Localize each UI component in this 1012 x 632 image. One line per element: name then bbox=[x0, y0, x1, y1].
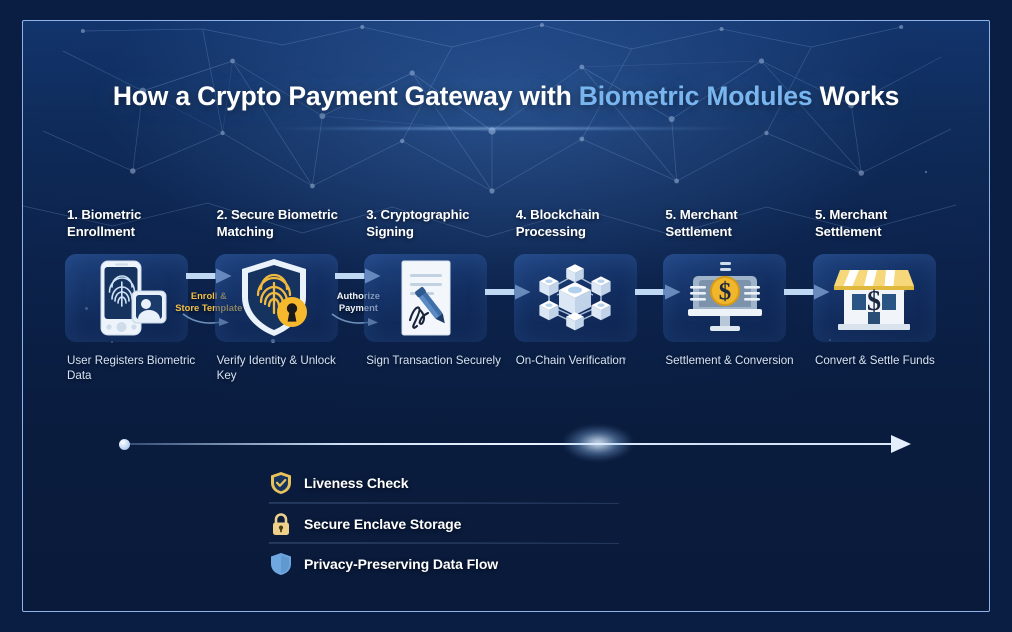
feature-label: Liveness Check bbox=[304, 475, 408, 491]
connector-2: Authorize Payment bbox=[353, 254, 365, 342]
step-caption: Convert & Settle Funds bbox=[813, 353, 951, 368]
step-3-cryptographic-signing: 3. Cryptographic Signing bbox=[364, 207, 502, 368]
step-caption: On-Chain Verification bbox=[514, 353, 652, 368]
document-signature-pen-icon bbox=[386, 258, 466, 338]
smartphone-fingerprint-face-icon bbox=[79, 259, 175, 337]
title-block: How a Crypto Payment Gateway with Biomet… bbox=[23, 81, 989, 112]
connector-1: Enroll & Store Template bbox=[203, 254, 215, 342]
step-icon-panel bbox=[514, 254, 637, 342]
step-4-blockchain-processing: 4. Blockchain Processing bbox=[514, 207, 652, 368]
steps-row: 1. Biometric Enrollment bbox=[65, 207, 951, 383]
blockchain-cubes-network-icon bbox=[527, 259, 623, 337]
connector-3 bbox=[502, 254, 514, 342]
step-title: 5. Merchant Settlement bbox=[663, 207, 801, 245]
step-title: 3. Cryptographic Signing bbox=[364, 207, 502, 245]
step-5-merchant-settlement: 5. Merchant Settlement bbox=[663, 207, 801, 368]
step-icon-panel bbox=[364, 254, 487, 342]
shield-fingerprint-keyhole-icon bbox=[234, 257, 318, 339]
timeline-arrowhead-icon bbox=[891, 435, 911, 453]
timeline-line bbox=[127, 443, 893, 445]
timeline-glow bbox=[563, 425, 633, 461]
step-icon-panel bbox=[65, 254, 188, 342]
page-title: How a Crypto Payment Gateway with Biomet… bbox=[23, 81, 989, 112]
shield-check-icon bbox=[269, 470, 293, 496]
title-text-last: Works bbox=[812, 81, 899, 111]
feature-item-liveness-check: Liveness Check bbox=[269, 463, 619, 503]
step-icon-panel: $ bbox=[813, 254, 936, 342]
infographic-poster: How a Crypto Payment Gateway with Biomet… bbox=[0, 0, 1012, 632]
step-title: 1. Biometric Enrollment bbox=[65, 207, 203, 245]
step-caption: Verify Identity & Unlock Key bbox=[215, 353, 353, 383]
feature-label: Privacy-Preserving Data Flow bbox=[304, 556, 498, 572]
step-6-merchant-settlement: 5. Merchant Settlement bbox=[813, 207, 951, 368]
step-title: 4. Blockchain Processing bbox=[514, 207, 652, 245]
title-underglow bbox=[276, 127, 736, 130]
step-caption: Settlement & Conversion bbox=[663, 353, 801, 368]
svg-text:$: $ bbox=[867, 286, 881, 317]
step-icon-panel: $ bbox=[663, 254, 786, 342]
step-title: 2. Secure Biometric Matching bbox=[215, 207, 353, 245]
feature-item-secure-enclave-storage: Secure Enclave Storage bbox=[269, 503, 619, 543]
step-caption: User Registers Biometric Data bbox=[65, 353, 203, 383]
step-2-secure-biometric-matching: 2. Secure Biometric Matching bbox=[215, 207, 353, 383]
title-text-first: How a Crypto Payment Gateway with bbox=[113, 81, 579, 111]
feature-label: Secure Enclave Storage bbox=[304, 516, 461, 532]
step-icon-panel bbox=[215, 254, 338, 342]
storefront-dollar-icon: $ bbox=[830, 260, 918, 336]
padlock-icon bbox=[269, 511, 293, 537]
monitor-dollar-coin-icon: $ bbox=[680, 260, 770, 336]
step-title: 5. Merchant Settlement bbox=[813, 207, 951, 245]
poster-frame: How a Crypto Payment Gateway with Biomet… bbox=[22, 20, 990, 612]
feature-item-privacy-preserving-data-flow: Privacy-Preserving Data Flow bbox=[269, 543, 619, 583]
title-text-highlight: Biometric Modules bbox=[579, 81, 813, 111]
feature-list: Liveness Check Secure Enclave Storage bbox=[269, 463, 619, 583]
timeline-start-dot bbox=[119, 439, 130, 450]
process-timeline bbox=[119, 433, 911, 455]
shield-icon bbox=[269, 551, 293, 577]
svg-text:$: $ bbox=[719, 279, 732, 306]
step-caption: Sign Transaction Securely bbox=[364, 353, 502, 368]
connector-5 bbox=[801, 254, 813, 342]
connector-4 bbox=[652, 254, 664, 342]
